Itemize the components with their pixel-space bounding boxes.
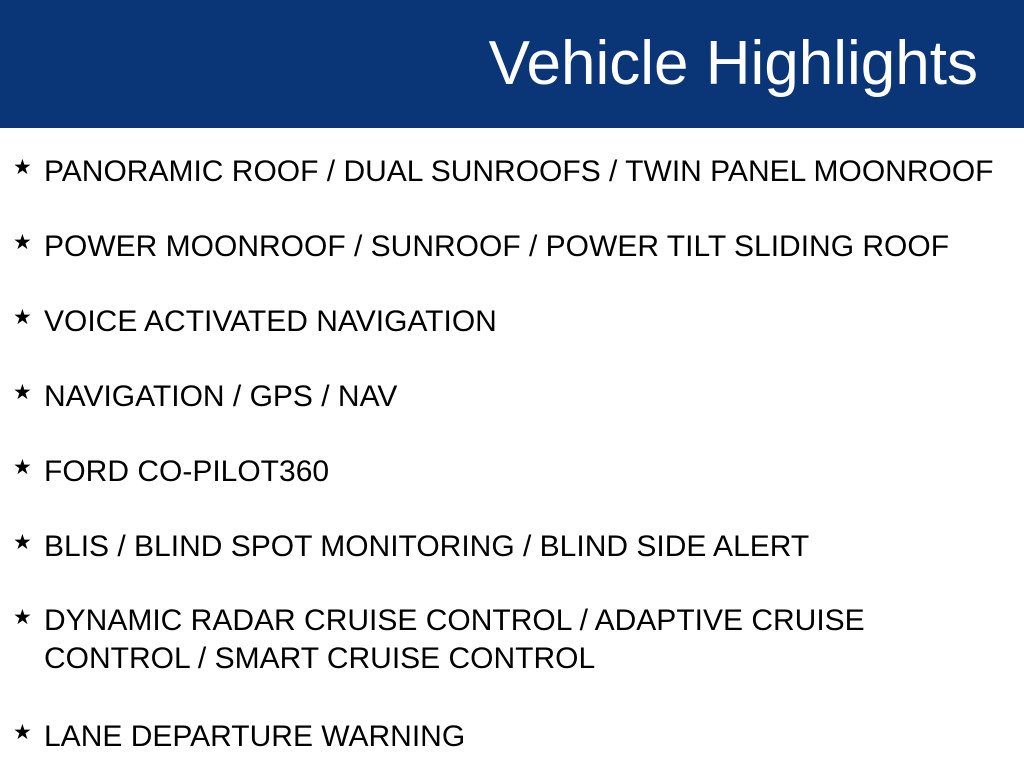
- list-item: ★ VOICE ACTIVATED NAVIGATION: [0, 278, 1024, 353]
- page-title: Vehicle Highlights: [489, 33, 978, 95]
- star-bullet-icon: ★: [13, 722, 33, 742]
- list-item: ★ PANORAMIC ROOF / DUAL SUNROOFS / TWIN …: [0, 128, 1024, 203]
- list-item: ★ NAVIGATION / GPS / NAV: [0, 353, 1024, 428]
- star-bullet-icon: ★: [13, 157, 33, 177]
- vehicle-highlights-list: ★ PANORAMIC ROOF / DUAL SUNROOFS / TWIN …: [0, 128, 1024, 768]
- list-item-label: BLIS / BLIND SPOT MONITORING / BLIND SID…: [44, 503, 1014, 566]
- star-bullet-icon: ★: [13, 382, 33, 402]
- list-item-label: LANE DEPARTURE WARNING: [44, 693, 1014, 756]
- star-bullet-icon: ★: [13, 307, 33, 327]
- list-item: ★ LANE DEPARTURE WARNING: [0, 693, 1024, 768]
- star-bullet-icon: ★: [13, 607, 33, 627]
- star-bullet-icon: ★: [13, 532, 33, 552]
- list-item: ★ BLIS / BLIND SPOT MONITORING / BLIND S…: [0, 503, 1024, 578]
- list-item: ★ FORD CO-PILOT360: [0, 428, 1024, 503]
- list-item-label: FORD CO-PILOT360: [44, 428, 1014, 491]
- vehicle-highlights-slide: Vehicle Highlights ★ PANORAMIC ROOF / DU…: [0, 0, 1024, 768]
- list-item: ★ DYNAMIC RADAR CRUISE CONTROL / ADAPTIV…: [0, 578, 1024, 693]
- list-item-label: POWER MOONROOF / SUNROOF / POWER TILT SL…: [44, 203, 1014, 266]
- list-item: ★ POWER MOONROOF / SUNROOF / POWER TILT …: [0, 203, 1024, 278]
- list-item-label: NAVIGATION / GPS / NAV: [44, 353, 1014, 416]
- star-bullet-icon: ★: [13, 232, 33, 252]
- list-item-label: PANORAMIC ROOF / DUAL SUNROOFS / TWIN PA…: [44, 128, 1014, 191]
- star-bullet-icon: ★: [13, 457, 33, 477]
- list-item-label: VOICE ACTIVATED NAVIGATION: [44, 278, 1014, 341]
- header-band: Vehicle Highlights: [0, 0, 1024, 128]
- list-item-label: DYNAMIC RADAR CRUISE CONTROL / ADAPTIVE …: [44, 578, 1014, 678]
